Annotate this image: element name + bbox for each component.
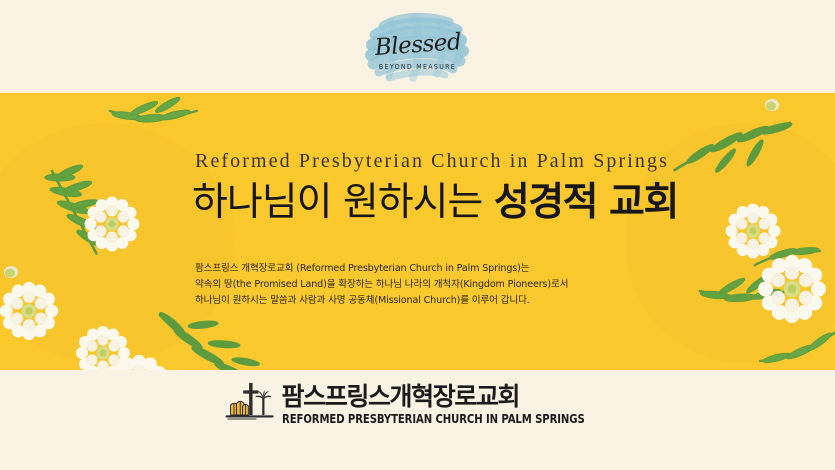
hero-banner: Reformed Presbyterian Church in Palm Spr… — [0, 93, 835, 370]
blessed-brushstroke-logo: Blessed BEYOND MEASURE — [353, 6, 483, 88]
hero-headline: 하나님이 원하시는 성경적 교회 — [192, 183, 678, 222]
hero-kicker: Reformed Presbyterian Church in Palm Spr… — [195, 150, 669, 173]
church-wordmark: 팜스프링스개혁장로교회 REFORMED PRESBYTERIAN CHURCH… — [282, 384, 611, 426]
church-logo-lockup: 팜스프링스개혁장로교회 REFORMED PRESBYTERIAN CHURCH… — [225, 378, 611, 426]
hero-body-line-3: 하나님이 원하시는 말씀과 사람과 사명 공동체(Missional Churc… — [195, 293, 625, 309]
hero-headline-emphasis: 성경적 교회 — [494, 180, 678, 225]
footer-band: 팜스프링스개혁장로교회 REFORMED PRESBYTERIAN CHURCH… — [0, 370, 835, 470]
wordmark-english: REFORMED PRESBYTERIAN CHURCH IN PALM SPR… — [282, 412, 585, 426]
wordmark-korean: 팜스프링스개혁장로교회 — [282, 384, 611, 411]
hero-body-line-1: 팜스프링스 개혁장로교회 (Reformed Presbyterian Chur… — [195, 261, 625, 277]
hero-headline-regular: 하나님이 원하시는 — [192, 180, 494, 225]
brushstroke-icon — [353, 6, 483, 88]
church-cross-palm-tent-emblem — [225, 378, 275, 426]
hero-body-line-2: 약속의 땅(the Promised Land)을 확장하는 하나님 나라의 개… — [195, 277, 625, 293]
page-root: Blessed BEYOND MEASURE — [0, 0, 835, 470]
top-logo-band: Blessed BEYOND MEASURE — [0, 0, 835, 93]
hero-text-block: Reformed Presbyterian Church in Palm Spr… — [0, 93, 835, 370]
hero-body-copy: 팜스프링스 개혁장로교회 (Reformed Presbyterian Chur… — [195, 261, 625, 309]
